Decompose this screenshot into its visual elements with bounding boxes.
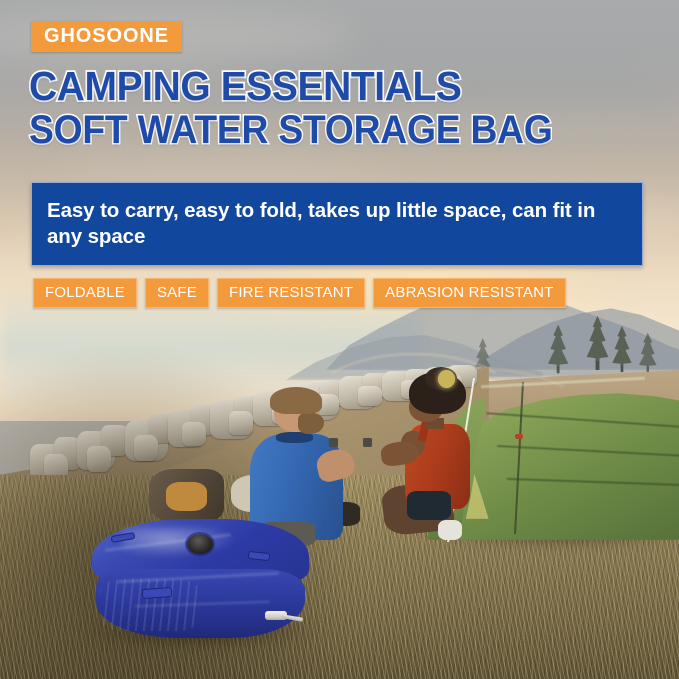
bag-highlight (122, 527, 235, 558)
gear-item-orange (166, 482, 207, 511)
woman-shoe (438, 520, 462, 540)
feature-tag-row: FOLDABLESAFEFIRE RESISTANTABRASION RESIS… (33, 278, 566, 308)
tent-ridge-line (481, 376, 645, 388)
drink-cup (363, 438, 372, 447)
woman-shorts (407, 491, 450, 520)
headline-block: CAMPING ESSENTIALS SOFT WATER STORAGE BA… (29, 66, 592, 150)
headline-line-2: SOFT WATER STORAGE BAG (29, 111, 553, 150)
camper-man (248, 390, 357, 539)
product-marketing-banner: GHOSOONE CAMPING ESSENTIALS SOFT WATER S… (0, 0, 679, 679)
headline-line-1: CAMPING ESSENTIALS (29, 66, 564, 106)
tent-clip (515, 434, 523, 439)
feature-tag: ABRASION RESISTANT (373, 278, 565, 308)
subtitle-bar: Easy to carry, easy to fold, takes up li… (31, 182, 643, 266)
feature-tag: FIRE RESISTANT (217, 278, 365, 308)
man-beard (298, 413, 324, 434)
camper-woman (377, 377, 486, 540)
man-hair (270, 387, 322, 414)
soft-water-storage-bag-product (92, 519, 309, 638)
bag-fill-cap (187, 534, 213, 554)
feature-tag: SAFE (145, 278, 209, 308)
drink-cup (329, 438, 338, 447)
brand-badge: GHOSOONE (31, 21, 182, 52)
bag-spigot-tap (265, 607, 302, 627)
man-collar (276, 432, 313, 442)
spigot-spout (281, 614, 302, 622)
subtitle-text: Easy to carry, easy to fold, takes up li… (32, 198, 642, 250)
feature-tag: FOLDABLE (33, 278, 137, 308)
